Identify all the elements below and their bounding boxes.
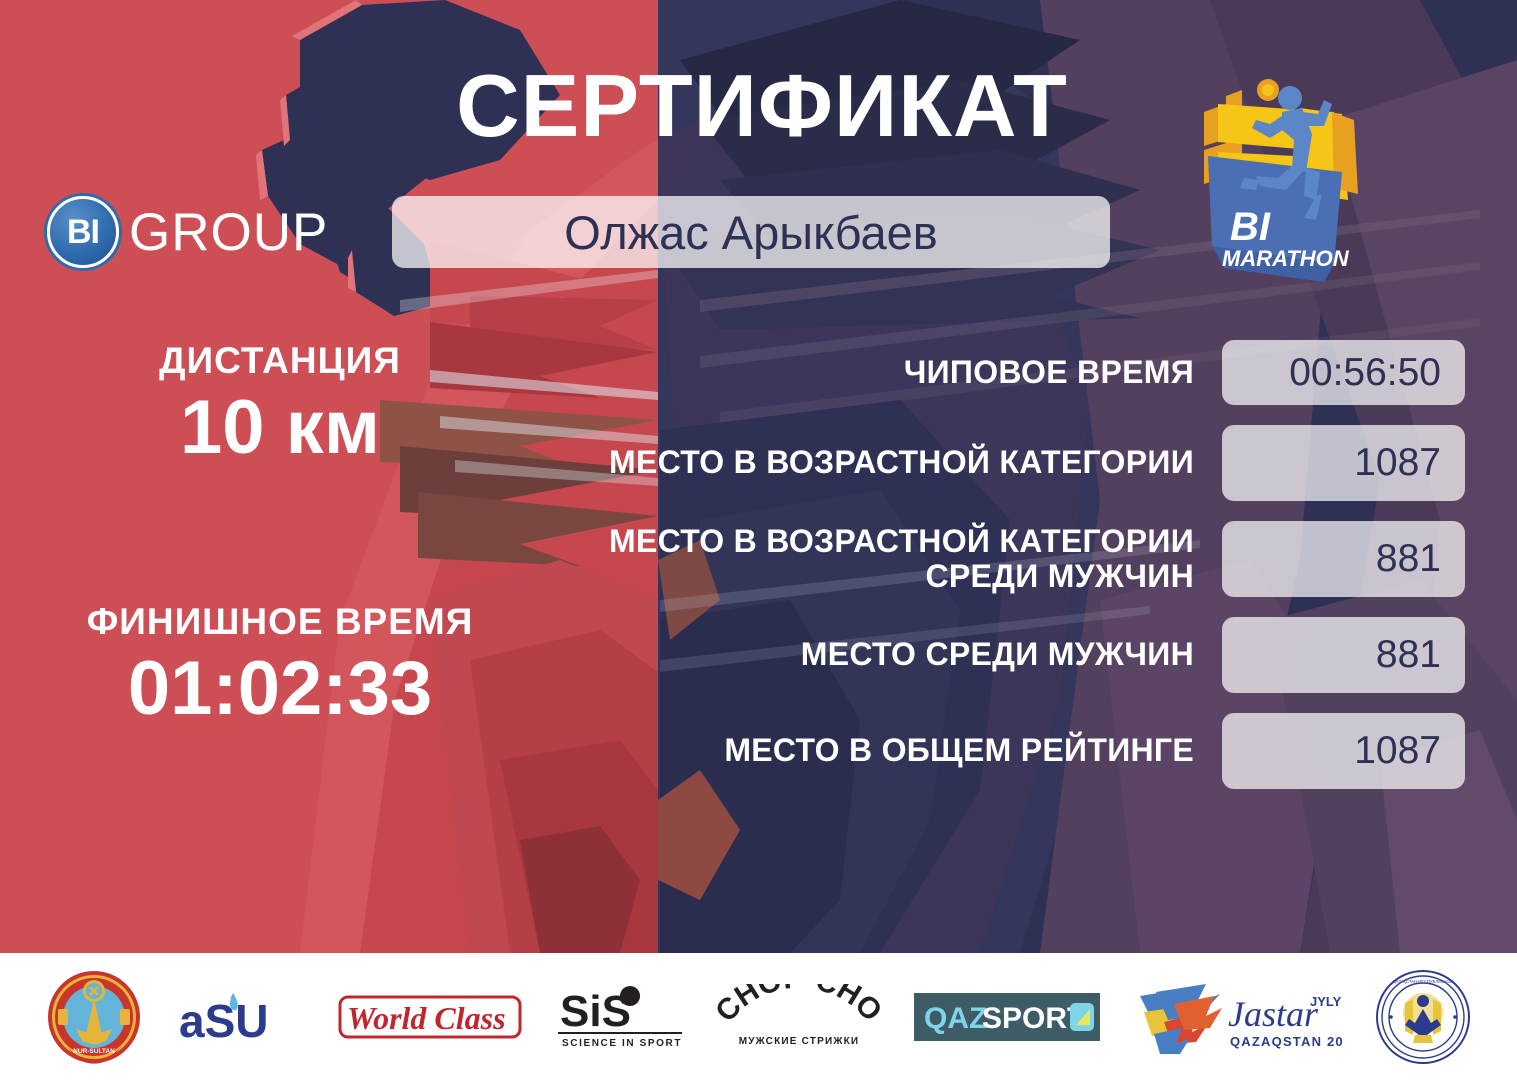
ministry-seal-icon: ҚАЗАҚСТАН РЕСПУБЛИКАСЫ [1375, 969, 1471, 1065]
sponsor-jastar-jyly: Jastar JYLY QAZAQSTAN 2019 [1134, 978, 1342, 1056]
stat-age-category-men-place-label: МЕСТО В ВОЗРАСТНОЙ КАТЕГОРИИ СРЕДИ МУЖЧИ… [520, 524, 1222, 594]
sponsor-nur-sultan: NUR-SULTAN [46, 969, 142, 1065]
bi-group-logo: BI GROUP [47, 196, 328, 268]
asu-logo-text: aSU [179, 995, 268, 1047]
left-column-spacer [40, 471, 520, 601]
marathon-logo-line2: MARATHON [1222, 246, 1350, 271]
stat-row-chip-time: ЧИПОВОЕ ВРЕМЯ 00:56:50 [520, 340, 1465, 405]
nur-sultan-emblem-text: NUR-SULTAN [73, 1048, 115, 1055]
asu-logo-icon: aSU [175, 987, 303, 1047]
certificate: СЕРТИФИКАТ BI GROUP Олжас Арыкбаев [0, 0, 1517, 1080]
qazsport-logo-text-a: QAZ [924, 1002, 987, 1035]
stat-distance-value: 10 км [40, 385, 520, 470]
participant-name: Олжас Арыкбаев [564, 205, 938, 260]
stat-row-overall-place: МЕСТО В ОБЩЕМ РЕЙТИНГЕ 1087 [520, 713, 1465, 789]
sponsor-bar: NUR-SULTAN aSU World Class SiS SCIENCE I… [0, 953, 1517, 1080]
stat-men-place-label: МЕСТО СРЕДИ МУЖЧИН [520, 637, 1222, 672]
participant-name-field: Олжас Арыкбаев [392, 196, 1110, 268]
sponsor-world-class: World Class [337, 987, 523, 1047]
right-stats-column: ЧИПОВОЕ ВРЕМЯ 00:56:50 МЕСТО В ВОЗРАСТНО… [520, 340, 1465, 809]
ministry-seal-text: ҚАЗАҚСТАН РЕСПУБЛИКАСЫ [1393, 979, 1453, 984]
sponsor-asu: aSU [175, 987, 303, 1047]
stat-chip-time-label: ЧИПОВОЕ ВРЕМЯ [520, 355, 1222, 390]
bi-roundel-icon: BI [47, 196, 119, 268]
jastar-jyly-logo-icon: Jastar JYLY QAZAQSTAN 2019 [1134, 978, 1342, 1056]
marathon-logo-line1: BI [1230, 205, 1271, 249]
sponsor-chop-chop: CHOP-CHOP МУЖСКИЕ СТРИЖКИ [717, 984, 881, 1050]
stat-men-place-value: 881 [1222, 617, 1465, 693]
stat-overall-place-label: МЕСТО В ОБЩЕМ РЕЙТИНГЕ [520, 733, 1222, 768]
page-title: СЕРТИФИКАТ [392, 62, 1132, 150]
chop-chop-logo-text: CHOP-CHOP [717, 984, 881, 1028]
stat-chip-time-value: 00:56:50 [1222, 340, 1465, 405]
stat-row-age-category-place: МЕСТО В ВОЗРАСТНОЙ КАТЕГОРИИ 1087 [520, 425, 1465, 501]
bi-group-wordmark: GROUP [129, 202, 328, 263]
sponsor-ministry-seal: ҚАЗАҚСТАН РЕСПУБЛИКАСЫ [1375, 969, 1471, 1065]
stat-finish-time-value: 01:02:33 [40, 646, 520, 731]
nur-sultan-emblem-icon: NUR-SULTAN [46, 969, 142, 1065]
qazsport-logo-text-b: SPORT [982, 1002, 1085, 1035]
jastar-logo-sub: QAZAQSTAN 2019 [1230, 1034, 1342, 1049]
stat-row-men-place: МЕСТО СРЕДИ МУЖЧИН 881 [520, 617, 1465, 693]
qazsport-logo-icon: QAZ SPORT [914, 993, 1100, 1041]
stat-row-age-category-men-place: МЕСТО В ВОЗРАСТНОЙ КАТЕГОРИИ СРЕДИ МУЖЧИ… [520, 521, 1465, 597]
stat-overall-place-value: 1087 [1222, 713, 1465, 789]
stat-finish-time: ФИНИШНОЕ ВРЕМЯ 01:02:33 [40, 601, 520, 732]
stat-age-category-place-label: МЕСТО В ВОЗРАСТНОЙ КАТЕГОРИИ [520, 445, 1222, 480]
stat-distance-label: ДИСТАНЦИЯ [40, 340, 520, 381]
bi-marathon-logo: BI MARATHON [1182, 68, 1372, 298]
chop-chop-logo-icon: CHOP-CHOP МУЖСКИЕ СТРИЖКИ [717, 984, 881, 1050]
jastar-logo-sup: JYLY [1310, 994, 1342, 1009]
chop-chop-logo-tagline: МУЖСКИЕ СТРИЖКИ [739, 1036, 860, 1047]
world-class-logo-icon: World Class [337, 987, 523, 1047]
stat-age-category-place-value: 1087 [1222, 425, 1465, 501]
sponsor-sis: SiS SCIENCE IN SPORT [556, 984, 684, 1050]
sponsor-qazsport: QAZ SPORT [914, 993, 1100, 1041]
world-class-logo-text: World Class [347, 1000, 506, 1036]
sis-logo-icon: SiS SCIENCE IN SPORT [556, 984, 684, 1050]
sis-logo-tagline: SCIENCE IN SPORT [562, 1038, 682, 1049]
left-stats-column: ДИСТАНЦИЯ 10 км ФИНИШНОЕ ВРЕМЯ 01:02:33 [40, 340, 520, 731]
stat-distance: ДИСТАНЦИЯ 10 км [40, 340, 520, 471]
stat-age-category-men-place-value: 881 [1222, 521, 1465, 597]
jastar-logo-text: Jastar [1228, 994, 1319, 1034]
stat-finish-time-label: ФИНИШНОЕ ВРЕМЯ [40, 601, 520, 642]
